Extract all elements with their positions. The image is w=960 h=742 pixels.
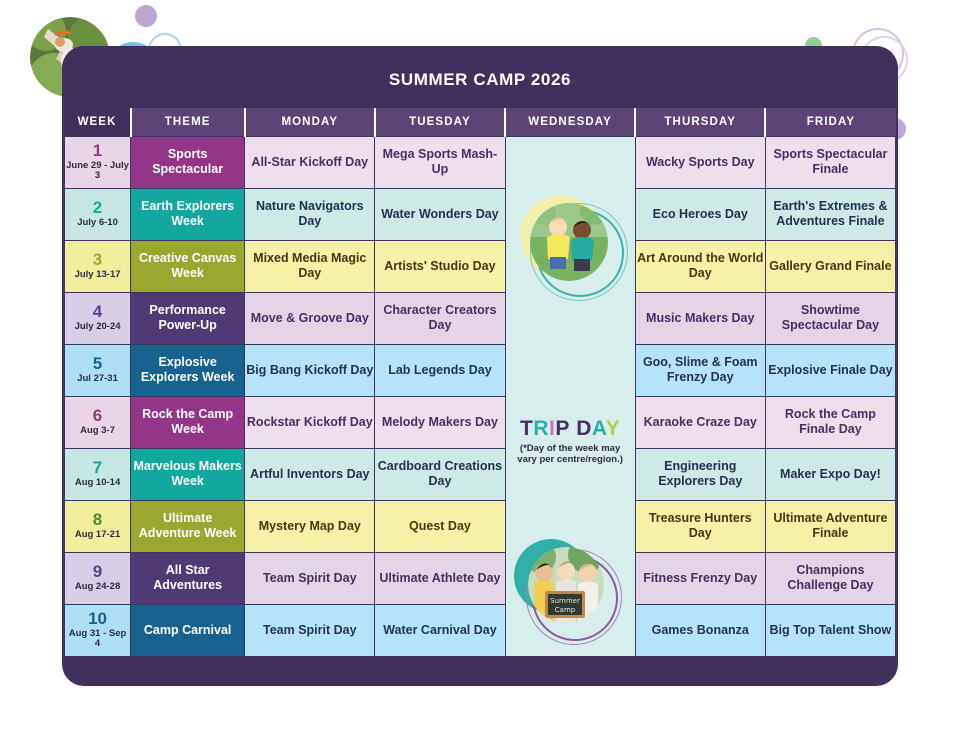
column-header-friday: FRIDAY xyxy=(765,108,895,136)
table-row: 10Aug 31 - Sep 4Camp CarnivalTeam Spirit… xyxy=(65,604,896,656)
friday-cell: Gallery Grand Finale xyxy=(765,240,895,292)
table-row: 4July 20-24Performance Power-UpMove & Gr… xyxy=(65,292,896,344)
week-date: Aug 24-28 xyxy=(65,582,130,592)
thursday-cell: Eco Heroes Day xyxy=(635,188,765,240)
week-cell: 9Aug 24-28 xyxy=(65,552,131,604)
schedule-table: WEEK THEME MONDAY TUESDAY WEDNESDAY THUR… xyxy=(64,108,896,657)
thursday-cell: Karaoke Craze Day xyxy=(635,396,765,448)
decorative-circle-lavender-small xyxy=(135,5,157,27)
thursday-cell: Wacky Sports Day xyxy=(635,136,765,188)
table-row: 2July 6-10Earth Explorers WeekNature Nav… xyxy=(65,188,896,240)
theme-cell: Sports Spectacular xyxy=(131,136,245,188)
tuesday-cell: Quest Day xyxy=(375,500,505,552)
tuesday-cell: Character Creators Day xyxy=(375,292,505,344)
friday-cell: Showtime Spectacular Day xyxy=(765,292,895,344)
week-date: July 6-10 xyxy=(65,218,130,228)
friday-cell: Champions Challenge Day xyxy=(765,552,895,604)
thursday-cell: Fitness Frenzy Day xyxy=(635,552,765,604)
tuesday-cell: Lab Legends Day xyxy=(375,344,505,396)
week-number: 8 xyxy=(65,511,130,530)
summer-camp-schedule-page: SUMMER CAMP 2026 WEEK THEME MONDAY TUESD… xyxy=(0,0,960,742)
week-cell: 10Aug 31 - Sep 4 xyxy=(65,604,131,656)
column-header-wednesday: WEDNESDAY xyxy=(505,108,635,136)
svg-text:Camp: Camp xyxy=(554,606,575,614)
tuesday-cell: Melody Makers Day xyxy=(375,396,505,448)
week-cell: 2July 6-10 xyxy=(65,188,131,240)
column-header-theme: THEME xyxy=(131,108,245,136)
week-date: July 13-17 xyxy=(65,270,130,280)
monday-cell: All-Star Kickoff Day xyxy=(245,136,375,188)
week-date: Aug 10-14 xyxy=(65,478,130,488)
svg-text:Summer: Summer xyxy=(550,597,580,605)
table-row: 6Aug 3-7Rock the Camp WeekRockstar Kicko… xyxy=(65,396,896,448)
week-number: 1 xyxy=(65,142,130,161)
table-row: 3July 13-17Creative Canvas WeekMixed Med… xyxy=(65,240,896,292)
friday-cell: Maker Expo Day! xyxy=(765,448,895,500)
thursday-cell: Goo, Slime & Foam Frenzy Day xyxy=(635,344,765,396)
friday-cell: Rock the Camp Finale Day xyxy=(765,396,895,448)
trip-day-note: (*Day of the week may vary per centre/re… xyxy=(510,443,631,467)
column-header-tuesday: TUESDAY xyxy=(375,108,505,136)
theme-cell: Camp Carnival xyxy=(131,604,245,656)
theme-cell: Earth Explorers Week xyxy=(131,188,245,240)
friday-cell: Ultimate Adventure Finale xyxy=(765,500,895,552)
week-cell: 1June 29 - July 3 xyxy=(65,136,131,188)
week-cell: 3July 13-17 xyxy=(65,240,131,292)
trip-day-title: TRIP DAY xyxy=(506,417,635,441)
week-date: July 20-24 xyxy=(65,322,130,332)
theme-cell: Ultimate Adventure Week xyxy=(131,500,245,552)
thursday-cell: Engineering Explorers Day xyxy=(635,448,765,500)
monday-cell: Artful Inventors Day xyxy=(245,448,375,500)
thursday-cell: Music Makers Day xyxy=(635,292,765,344)
week-cell: 8Aug 17-21 xyxy=(65,500,131,552)
table-row: 8Aug 17-21Ultimate Adventure WeekMystery… xyxy=(65,500,896,552)
theme-cell: Performance Power-Up xyxy=(131,292,245,344)
monday-cell: Mixed Media Magic Day xyxy=(245,240,375,292)
friday-cell: Earth's Extremes & Adventures Finale xyxy=(765,188,895,240)
week-cell: 4July 20-24 xyxy=(65,292,131,344)
friday-cell: Big Top Talent Show xyxy=(765,604,895,656)
week-date: June 29 - July 3 xyxy=(65,161,130,182)
monday-cell: Big Bang Kickoff Day xyxy=(245,344,375,396)
thursday-cell: Treasure Hunters Day xyxy=(635,500,765,552)
table-row: 7Aug 10-14Marvelous Makers WeekArtful In… xyxy=(65,448,896,500)
monday-cell: Team Spirit Day xyxy=(245,604,375,656)
monday-cell: Mystery Map Day xyxy=(245,500,375,552)
tuesday-cell: Cardboard Creations Day xyxy=(375,448,505,500)
week-cell: 7Aug 10-14 xyxy=(65,448,131,500)
table-row: 1June 29 - July 3Sports SpectacularAll-S… xyxy=(65,136,896,188)
column-header-thursday: THURSDAY xyxy=(635,108,765,136)
week-number: 3 xyxy=(65,251,130,270)
tuesday-cell: Water Wonders Day xyxy=(375,188,505,240)
table-body: 1June 29 - July 3Sports SpectacularAll-S… xyxy=(65,136,896,656)
monday-cell: Move & Groove Day xyxy=(245,292,375,344)
week-number: 2 xyxy=(65,199,130,218)
tuesday-cell: Mega Sports Mash-Up xyxy=(375,136,505,188)
kids-with-summer-camp-chalkboard-photo: SummerCamp xyxy=(528,547,604,623)
theme-cell: Marvelous Makers Week xyxy=(131,448,245,500)
thursday-cell: Art Around the World Day xyxy=(635,240,765,292)
table-header-row: WEEK THEME MONDAY TUESDAY WEDNESDAY THUR… xyxy=(65,108,896,136)
tuesday-cell: Water Carnival Day xyxy=(375,604,505,656)
wednesday-trip-day-cell: TRIP DAY(*Day of the week may vary per c… xyxy=(505,136,635,656)
monday-cell: Team Spirit Day xyxy=(245,552,375,604)
week-number: 10 xyxy=(65,610,130,629)
table-row: 5Jul 27-31Explosive Explorers WeekBig Ba… xyxy=(65,344,896,396)
tuesday-cell: Ultimate Athlete Day xyxy=(375,552,505,604)
week-number: 9 xyxy=(65,563,130,582)
week-number: 4 xyxy=(65,303,130,322)
monday-cell: Nature Navigators Day xyxy=(245,188,375,240)
week-number: 7 xyxy=(65,459,130,478)
week-date: Aug 3-7 xyxy=(65,426,130,436)
kids-running-photo xyxy=(530,203,608,281)
tuesday-cell: Artists' Studio Day xyxy=(375,240,505,292)
friday-cell: Sports Spectacular Finale xyxy=(765,136,895,188)
week-date: Aug 17-21 xyxy=(65,530,130,540)
week-number: 6 xyxy=(65,407,130,426)
week-date: Jul 27-31 xyxy=(65,374,130,384)
week-cell: 5Jul 27-31 xyxy=(65,344,131,396)
table-row: 9Aug 24-28All Star AdventuresTeam Spirit… xyxy=(65,552,896,604)
week-cell: 6Aug 3-7 xyxy=(65,396,131,448)
theme-cell: All Star Adventures xyxy=(131,552,245,604)
week-date: Aug 31 - Sep 4 xyxy=(65,629,130,650)
page-title: SUMMER CAMP 2026 xyxy=(62,70,898,90)
column-header-week: WEEK xyxy=(65,108,131,136)
theme-cell: Creative Canvas Week xyxy=(131,240,245,292)
week-number: 5 xyxy=(65,355,130,374)
theme-cell: Explosive Explorers Week xyxy=(131,344,245,396)
column-header-monday: MONDAY xyxy=(245,108,375,136)
friday-cell: Explosive Finale Day xyxy=(765,344,895,396)
thursday-cell: Games Bonanza xyxy=(635,604,765,656)
monday-cell: Rockstar Kickoff Day xyxy=(245,396,375,448)
theme-cell: Rock the Camp Week xyxy=(131,396,245,448)
